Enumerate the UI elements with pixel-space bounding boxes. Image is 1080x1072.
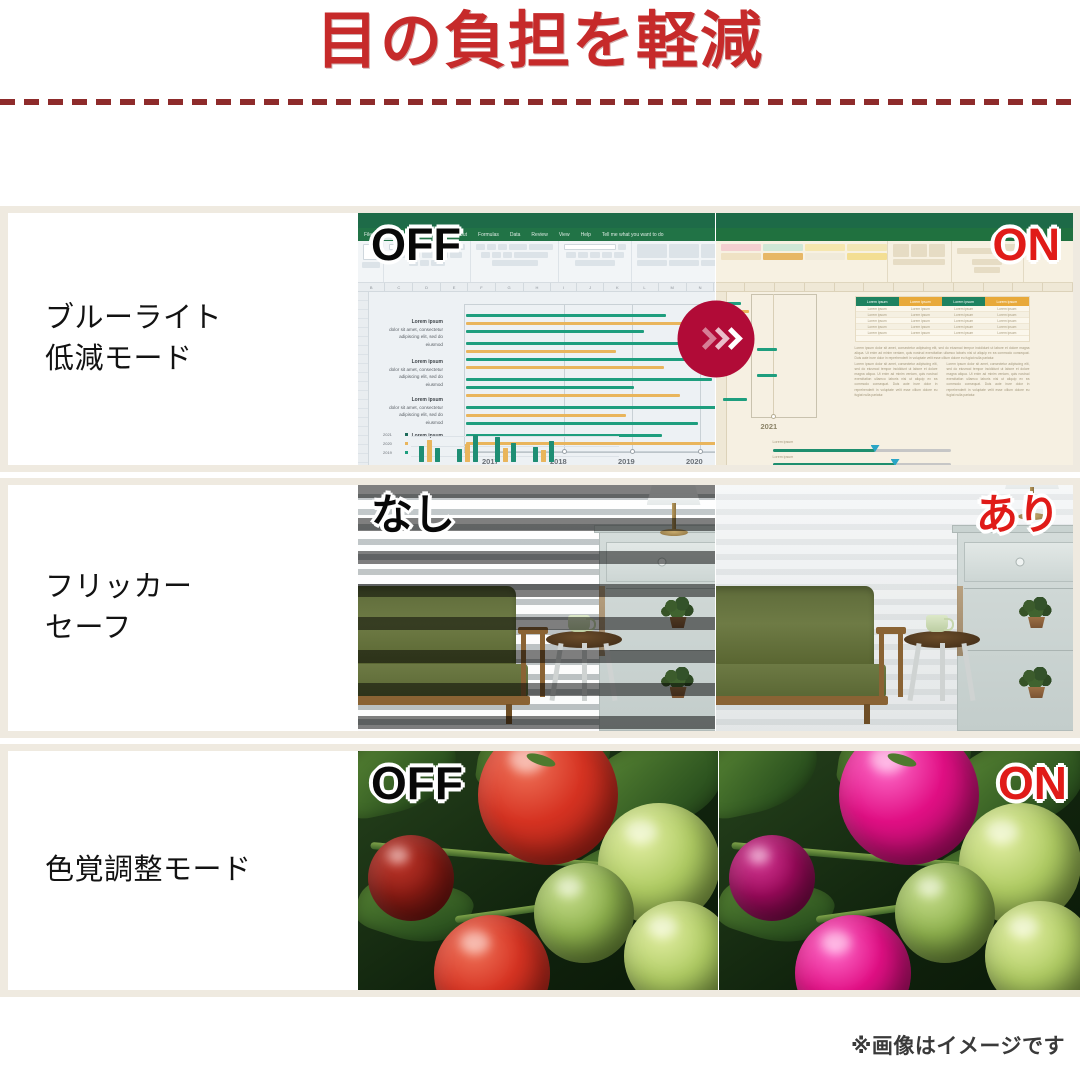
round-side-table [904,631,980,709]
side-stool [518,627,548,697]
comparison-pane-without: なし [358,485,716,731]
comparison-media-blue-light: File Home Insert Page Layout Formulas Da… [358,213,1073,465]
table-lamp [647,485,701,541]
state-tag-off: OFF [371,760,463,806]
footnote-disclaimer: ※画像はイメージです [851,1030,1065,1060]
row-headers [358,292,369,465]
ribbon-group-styles [632,241,716,282]
state-tag-on: ON [998,760,1067,806]
feature-label-flicker-safe: フリッカー セーフ [8,485,358,731]
table-row: 色覚調整モード [0,744,1080,997]
table-row: ブルーライト 低減モード File Home Insert Page Layou… [0,206,1080,472]
potted-plant [661,667,695,699]
column-header[interactable]: M [659,283,687,291]
comparison-media-flicker: なし [358,485,1073,731]
sofa [358,586,538,721]
column-header[interactable]: K [604,283,631,291]
cabinet-drawer [606,542,715,582]
style-chip-input[interactable] [721,253,761,260]
comparison-pane-off: File Home Insert Page Layout Formulas Da… [358,213,716,465]
column-header[interactable]: D [413,283,441,291]
comparison-pane-with: あり [716,485,1074,731]
column-header[interactable]: H [524,283,552,291]
column-header[interactable]: C [385,283,413,291]
state-tag-without: なし [371,494,455,536]
column-headers [716,283,1074,292]
progress-slider[interactable] [773,448,951,452]
page-title: 目の負担を軽減 [0,4,1080,80]
document-content-on: 2021 Lorem ipsum Lorem ipsum Lorem ipsum… [727,292,1074,465]
column-header[interactable]: B [358,283,385,291]
body-paragraph: Lorem ipsum dolor sit amet, consectetur … [855,362,938,398]
feature-comparison-table: ブルーライト 低減モード File Home Insert Page Layou… [0,206,1080,994]
ribbon-tab-review[interactable]: Review [531,232,547,238]
column-header[interactable]: L [632,283,659,291]
column-header[interactable]: I [551,283,577,291]
legend-entry: 2020 [383,441,392,446]
ribbon-group-alignment [471,241,559,282]
potted-plant [661,597,695,629]
feature-label-blue-light: ブルーライト 低減モード [8,213,358,465]
ribbon-group-cells [888,241,952,282]
gantt-year-tick: 2021 [761,422,778,431]
tell-me-box[interactable]: Tell me what you want to do [602,232,664,238]
style-chip-output[interactable] [763,253,803,260]
ribbon-group-number [559,241,632,282]
worksheet-grid[interactable]: 2021 Lorem ipsum Lorem ipsum Lorem ipsum… [727,292,1074,465]
ribbon-tab-data[interactable]: Data [510,232,521,238]
legend-entry: 2019 [383,450,392,455]
potted-plant [1019,597,1053,629]
potted-plant [1019,667,1053,699]
gantt-task-label: Lorem ipsum dolor sit amet, consectetur … [383,358,443,388]
sofa [716,586,896,721]
slider-label: Lorem ipsum [773,440,794,444]
worksheet-grid[interactable]: Lorem ipsum dolor sit amet, consectetur … [369,292,715,465]
style-chip-note[interactable] [847,253,887,260]
table-header-row: Lorem ipsum Lorem ipsum Lorem ipsum Lore… [856,297,1029,306]
comparison-pane-off: OFF [358,751,719,990]
table-header-cell: Lorem ipsum [856,297,899,306]
mini-bar-chart: 2021 2020 2019 [383,432,709,462]
table-header-cell: Lorem ipsum [899,297,942,306]
body-paragraph: Lorem ipsum dolor sit amet, consectetur … [947,362,1030,398]
body-paragraph: Lorem ipsum dolor sit amet, consectetur … [855,346,1030,361]
legend-entry: 2021 [383,432,392,437]
gantt-task-label: Lorem ipsum dolor sit amet, consectetur … [383,396,443,426]
table-row: フリッカー セーフ [0,478,1080,738]
column-header[interactable]: G [496,283,524,291]
column-header[interactable]: F [468,283,495,291]
column-headers: B C D E F G H I J K L M N [358,283,715,292]
style-chip-bad[interactable] [721,244,761,251]
style-chip-good[interactable] [763,244,803,251]
table-header-cell: Lorem ipsum [942,297,985,306]
state-tag-with: あり [976,494,1060,536]
mug [926,615,948,632]
style-chip-neutral[interactable] [805,244,845,251]
ribbon-tab-formulas[interactable]: Formulas [478,232,499,238]
ribbon-tab-help[interactable]: Help [581,232,591,238]
ribbon-tab-view[interactable]: View [559,232,570,238]
column-header[interactable]: N [687,283,715,291]
data-table: Lorem ipsum Lorem ipsum Lorem ipsum Lore… [855,296,1030,342]
column-header[interactable]: J [577,283,604,291]
side-stool [876,627,906,697]
round-side-table [546,631,622,709]
state-tag-off: OFF [371,222,461,267]
feature-label-color-vision: 色覚調整モード [8,751,358,990]
dashed-divider [0,99,1080,105]
style-chip-linked-cell[interactable] [805,253,845,260]
column-header[interactable]: E [441,283,468,291]
chevron-triple-right-icon [677,301,754,378]
comparison-media-color-vision: OFF O [358,751,1080,990]
slider-label: Lorem ipsum [773,455,794,459]
table-header-cell: Lorem ipsum [985,297,1028,306]
comparison-pane-on: ON [719,751,1080,990]
state-tag-on: ON [993,222,1061,267]
gantt-task-label: Lorem ipsum dolor sit amet, consectetur … [383,318,443,348]
mug [568,615,590,632]
cabinet-drawer [964,542,1073,582]
ribbon-group-styles [716,241,888,282]
progress-slider[interactable] [773,462,951,465]
style-chip-calculation[interactable] [847,244,887,251]
comparison-pane-on: 2021 Lorem ipsum Lorem ipsum Lorem ipsum… [716,213,1074,465]
table-row: Lorem ipsum Lorem ipsum Lorem ipsum Lore… [856,330,1029,336]
gantt-chart: Lorem ipsum dolor sit amet, consectetur … [369,292,715,465]
